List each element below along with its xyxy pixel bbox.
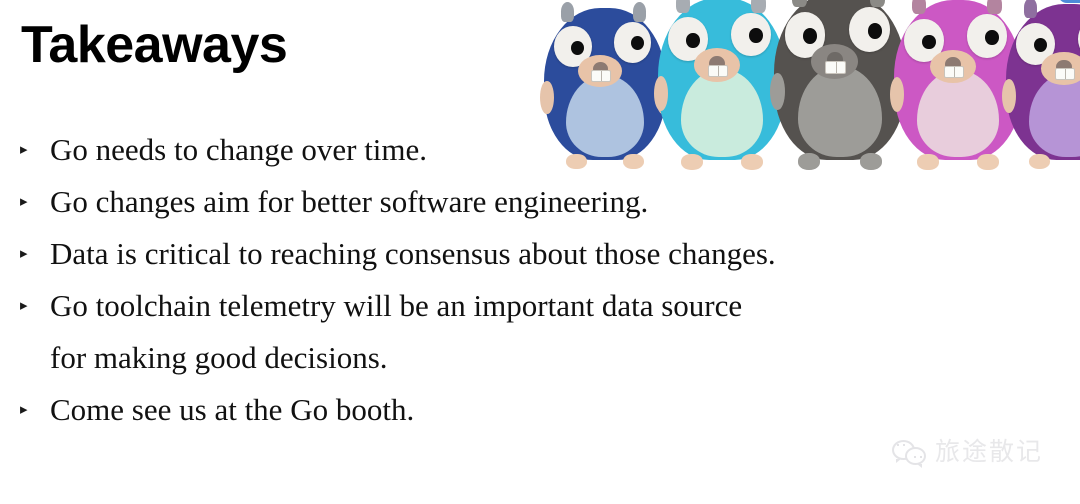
list-item-text: Go changes aim for better software engin… — [50, 176, 1016, 228]
gopher-muzzle — [694, 48, 740, 82]
list-item-text: Go needs to change over time. — [50, 124, 1016, 176]
gopher-muzzle — [1041, 52, 1080, 85]
gopher-teeth — [1055, 68, 1075, 80]
gopher-ear-right — [987, 0, 1001, 14]
list-item: ▸ Come see us at the Go booth. — [16, 384, 1016, 436]
purple-gopher — [1006, 4, 1080, 160]
gopher-foot-left — [1029, 154, 1050, 170]
list-item-continuation: for making good decisions. — [50, 332, 1016, 384]
gopher-teeth — [591, 70, 611, 82]
gopher-ear-left — [1024, 0, 1038, 18]
list-item: ▸ Go toolchain telemetry will be an impo… — [16, 280, 1016, 384]
slide: Takeaways — [0, 0, 1080, 504]
gopher-ear-left — [792, 0, 807, 7]
triangle-bullet-icon: ▸ — [20, 384, 40, 436]
gopher-ear-left — [561, 2, 574, 22]
list-item-text: Go toolchain telemetry will be an import… — [50, 280, 1016, 332]
wechat-dot — [914, 456, 916, 458]
gopher-arm-left — [540, 81, 553, 114]
list-item: ▸ Go needs to change over time. — [16, 124, 1016, 176]
triangle-bullet-icon: ▸ — [20, 228, 40, 280]
corner-accent — [1058, 0, 1080, 3]
page-title: Takeaways — [21, 14, 287, 76]
triangle-bullet-icon: ▸ — [20, 176, 40, 228]
gopher-teeth — [825, 61, 846, 74]
list-item-text: Data is critical to reaching consensus a… — [50, 228, 1016, 280]
gopher-ear-right — [633, 2, 646, 22]
gopher-pupil — [686, 33, 699, 48]
list-item: ▸ Go changes aim for better software eng… — [16, 176, 1016, 228]
gopher-pupil — [985, 30, 998, 45]
gopher-ear-right — [751, 0, 765, 13]
watermark: 旅途散记 — [892, 438, 1043, 466]
watermark-text: 旅途散记 — [935, 438, 1043, 466]
wechat-dot — [897, 444, 899, 446]
triangle-bullet-icon: ▸ — [20, 124, 40, 176]
gopher-pupil — [922, 35, 935, 50]
gopher-ear-right — [870, 0, 885, 7]
list-item: ▸ Data is critical to reaching consensus… — [16, 228, 1016, 280]
list-item-text: Come see us at the Go booth. — [50, 384, 1016, 436]
gopher-pupil — [571, 41, 584, 55]
gopher-pupil — [803, 28, 817, 43]
gopher-pupil — [868, 23, 882, 38]
gopher-muzzle — [930, 50, 976, 84]
gopher-teeth — [708, 65, 728, 77]
wechat-icon — [892, 439, 926, 465]
triangle-bullet-icon: ▸ — [20, 280, 40, 332]
wechat-dot — [903, 444, 905, 446]
takeaways-bullet-list: ▸ Go needs to change over time. ▸ Go cha… — [16, 124, 1016, 436]
gopher-teeth — [944, 66, 964, 78]
gopher-pupil — [1034, 38, 1047, 52]
gopher-ear-left — [676, 0, 690, 13]
gopher-eye-right — [731, 13, 771, 57]
gopher-pupil — [749, 28, 762, 43]
gopher-eye-right — [614, 22, 652, 63]
gopher-muzzle — [578, 55, 622, 87]
gopher-pupil — [631, 36, 644, 50]
gopher-ear-left — [912, 0, 926, 14]
gopher-eye-right — [967, 14, 1007, 57]
gopher-arm-left — [770, 73, 785, 110]
wechat-dot — [920, 456, 922, 458]
